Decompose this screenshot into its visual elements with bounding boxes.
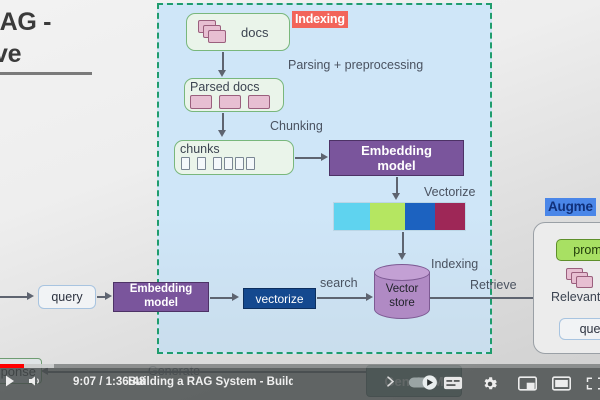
title-underline [0, 72, 92, 75]
arrowhead-docs-to-parsed [218, 70, 226, 77]
arrow-vector-to-store [402, 232, 404, 254]
next-video-button[interactable] [383, 374, 398, 389]
autoplay-toggle[interactable] [408, 375, 438, 390]
arrow-embedding-to-vector [396, 177, 398, 194]
volume-icon[interactable] [26, 373, 44, 389]
subtitles-icon[interactable] [443, 376, 463, 390]
arrow-store-to-relevant [430, 297, 535, 299]
arrow-embedding-to-vectorize [210, 297, 233, 299]
query-box: query [38, 285, 96, 309]
arrow-vectorize-to-store [317, 297, 367, 299]
vector-store-label: Vector store [374, 282, 430, 311]
docs-label: docs [241, 25, 268, 40]
arrowhead-vectorize-to-store [366, 293, 373, 301]
chunking-label: Chunking [270, 119, 323, 133]
theater-mode-icon[interactable] [552, 376, 571, 391]
indexing-label: Indexing [292, 11, 348, 28]
vectorize-edge-label: Vectorize [424, 185, 475, 199]
arrowhead-chunks-to-embedding [321, 153, 328, 161]
video-title[interactable]: Building a RAG System - Build an ... [128, 376, 293, 388]
parsing-label: Parsing + preprocessing [288, 58, 423, 72]
fullscreen-icon[interactable] [586, 376, 600, 391]
cylinder-top [374, 264, 430, 281]
relevant-label: Relevant [551, 290, 600, 304]
vector-segment-4 [435, 203, 465, 230]
chunks-label: chunks [180, 142, 220, 156]
vector-store-cylinder: Vector store [374, 264, 430, 326]
arrowhead-into-query [27, 292, 34, 300]
arrow-chunks-to-embedding [295, 157, 322, 159]
embedding-model-top-box: Embedding model [329, 140, 464, 176]
vector-embedding-bar [333, 202, 466, 231]
arrow-into-query [0, 296, 28, 298]
retrieve-label: Retrieve [470, 278, 517, 292]
augmentation-query-box: que [559, 318, 600, 340]
video-title-text: Building a RAG System - Build an ... [128, 376, 293, 388]
prompt-box: promp [556, 239, 600, 261]
parsed-docs-chips [190, 95, 278, 111]
arrowhead-embedding-to-vectorize [232, 293, 239, 301]
indexing-edge-label: Indexing [431, 257, 478, 271]
arrowhead-vector-to-store [398, 253, 406, 260]
progress-played [0, 364, 24, 368]
augmentation-label: Augme [545, 198, 596, 216]
vector-segment-1 [334, 203, 370, 230]
miniplayer-icon[interactable] [518, 376, 537, 391]
arrowhead-parsed-to-chunks [218, 130, 226, 137]
slide-title: ve RAG - p Dive [0, 6, 148, 70]
video-frame: ve RAG - p Dive Indexing docs Parsing + … [0, 0, 600, 400]
parsed-docs-label: Parsed docs [190, 80, 259, 94]
vector-segment-3 [405, 203, 434, 230]
arrow-parsed-to-chunks [222, 113, 224, 130]
chunk-tokens-icon [181, 157, 287, 171]
documents-icon [198, 20, 232, 45]
arrow-docs-to-parsed [222, 52, 224, 71]
video-player-controls: 9:07 / 1:36:48 Building a RAG System - B… [0, 364, 600, 400]
arrowhead-embedding-to-vector [392, 193, 400, 200]
play-button[interactable] [2, 373, 18, 389]
vectorize-box: vectorize [243, 288, 316, 309]
relevant-documents-icon [566, 268, 596, 292]
settings-gear-icon[interactable] [481, 375, 499, 393]
arrowhead-query-to-embedding [105, 292, 112, 300]
embedding-model-bottom-box: Embedding model [113, 282, 209, 312]
search-label: search [320, 276, 358, 290]
progress-bar[interactable] [0, 364, 600, 368]
vector-segment-2 [370, 203, 405, 230]
